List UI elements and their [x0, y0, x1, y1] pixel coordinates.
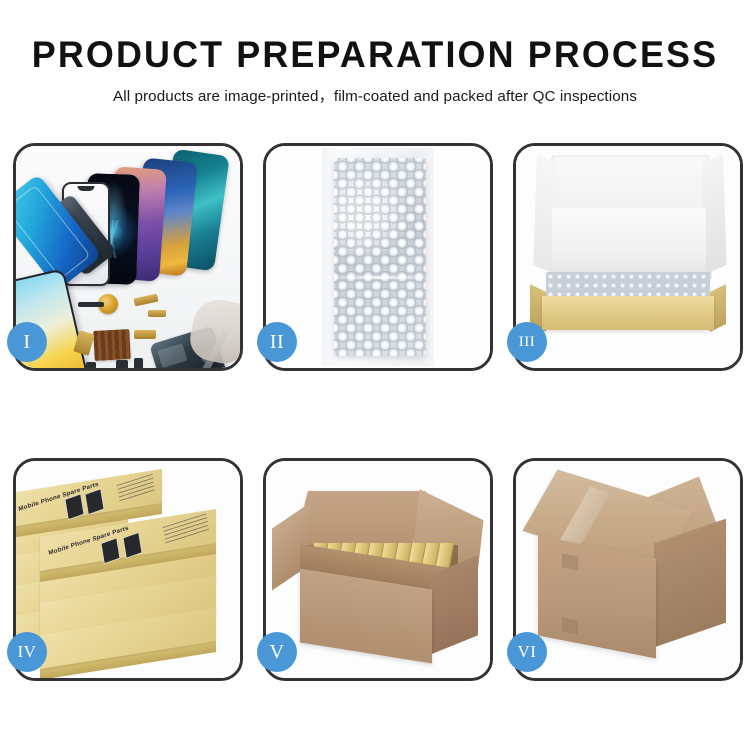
flex-cable-part-4 [134, 330, 156, 339]
step-image-6 [516, 461, 740, 678]
camera-module-part [134, 358, 143, 368]
step-badge-2: II [257, 322, 297, 362]
step-badge-1: I [7, 322, 47, 362]
foam-liner [552, 208, 706, 272]
carton-seam-tab-lower [562, 617, 578, 634]
taptic-part [116, 360, 128, 368]
bubble-pattern [334, 158, 426, 356]
product-preparation-infographic: PRODUCT PREPARATION PROCESS All products… [0, 0, 750, 750]
step-panel-3[interactable]: III [513, 143, 743, 371]
box-screen-artwork [122, 532, 142, 559]
retail-box [40, 621, 216, 673]
step-badge-3: III [507, 322, 547, 362]
step-panel-5[interactable]: V [263, 458, 493, 681]
step-image-5 [266, 461, 490, 678]
step-badge-6: VI [507, 632, 547, 672]
flex-cable-part-2 [148, 310, 166, 317]
step-badge-5: V [257, 632, 297, 672]
box-spec-lines [117, 474, 155, 503]
retail-box-labeled: Mobile Phone Spare Parts [16, 481, 162, 531]
kraft-box-front [542, 296, 714, 330]
step-image-1 [16, 146, 240, 368]
carton-seam-tab-upper [562, 553, 578, 570]
phone-notch [78, 186, 95, 191]
steps-grid: I II [0, 0, 750, 750]
box-spec-lines [163, 513, 209, 544]
step-badge-4: IV [7, 632, 47, 672]
box-screen-artwork [84, 488, 104, 515]
step-panel-1[interactable]: I [13, 143, 243, 371]
step-image-4: Mobile Phone Spare Parts Mobile Phone Sp… [16, 461, 240, 678]
chip-array-part [93, 329, 131, 361]
step-panel-4[interactable]: Mobile Phone Spare Parts Mobile Phone Sp… [13, 458, 243, 681]
small-component-part [86, 362, 96, 368]
earpiece-speaker-part [78, 302, 104, 307]
step-image-2 [266, 146, 490, 368]
bubble-wrap-pouch [334, 158, 426, 356]
bubble-wrap-seam [334, 276, 426, 279]
step-panel-6[interactable]: VI [513, 458, 743, 681]
step-panel-2[interactable]: II [263, 143, 493, 371]
step-image-3 [516, 146, 740, 368]
